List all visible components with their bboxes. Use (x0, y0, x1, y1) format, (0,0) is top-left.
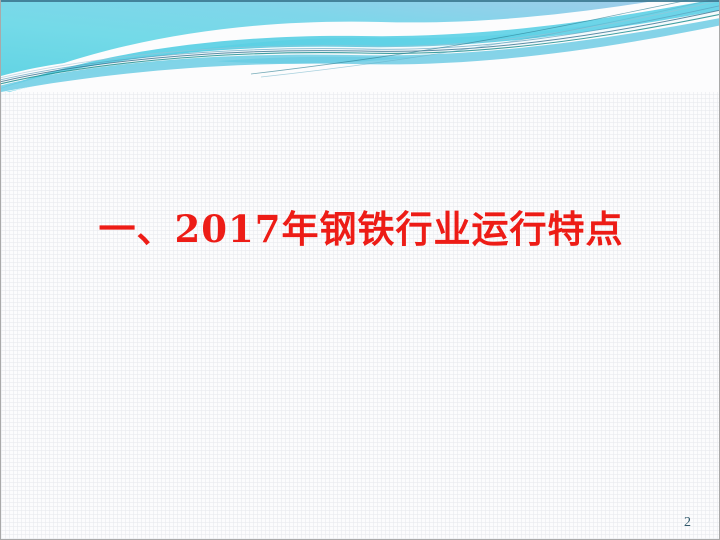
wave-banner-graphic (1, 0, 720, 92)
slide-canvas: 一、2017年钢铁行业运行特点 2 (0, 0, 720, 540)
page-title: 一、2017年钢铁行业运行特点 (1, 206, 720, 252)
page-title-text: 一、2017年钢铁行业运行特点 (99, 206, 624, 252)
banner-top-rule (1, 0, 720, 2)
wave-banner (1, 0, 720, 92)
slide-number: 2 (684, 515, 691, 531)
